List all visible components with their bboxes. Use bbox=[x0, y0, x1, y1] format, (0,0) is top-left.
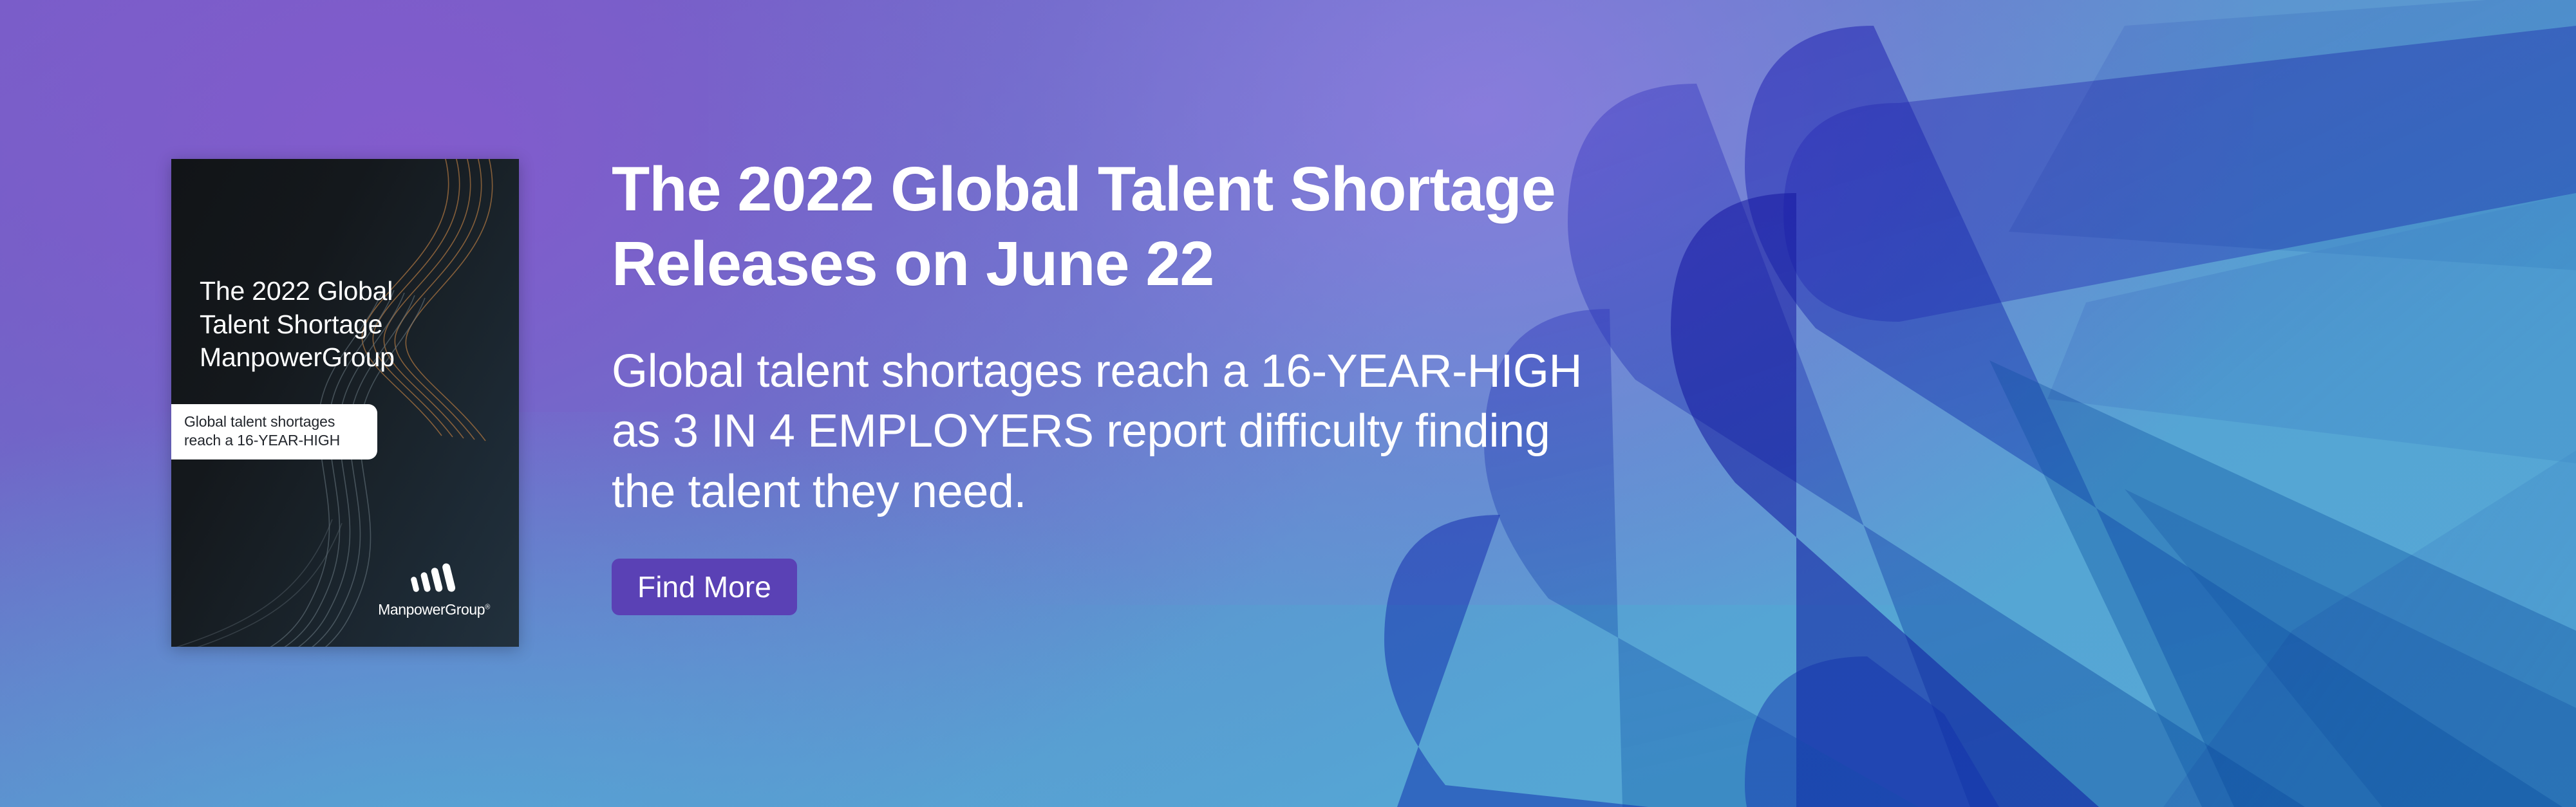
subcopy-line-3: the talent they need. bbox=[612, 466, 1026, 517]
cover-badge-line-2: reach a 16-YEAR-HIGH bbox=[184, 431, 366, 450]
cover-title-line-2: Talent Shortage bbox=[200, 308, 476, 342]
banner-content: The 2022 Global Talent Shortage Releases… bbox=[612, 152, 1822, 615]
manpowergroup-logo: ManpowerGroup® bbox=[376, 562, 492, 618]
trademark-symbol: ® bbox=[485, 603, 490, 611]
page-title: The 2022 Global Talent Shortage Releases… bbox=[612, 152, 1822, 302]
subcopy-line-1: Global talent shortages reach a 16-YEAR-… bbox=[612, 346, 1582, 397]
manpowergroup-wordmark: ManpowerGroup® bbox=[376, 601, 492, 618]
cover-title: The 2022 Global Talent Shortage Manpower… bbox=[200, 275, 476, 375]
find-more-button[interactable]: Find More bbox=[612, 559, 797, 615]
cover-badge-line-1: Global talent shortages bbox=[184, 413, 366, 431]
cover-title-line-3: ManpowerGroup bbox=[200, 341, 476, 375]
report-cover-image: The 2022 Global Talent Shortage Manpower… bbox=[171, 159, 519, 647]
headline-line-1: The 2022 Global Talent Shortage bbox=[612, 152, 1822, 227]
subcopy-line-2: as 3 IN 4 EMPLOYERS report difficulty fi… bbox=[612, 405, 1550, 457]
manpowergroup-bars-icon bbox=[411, 562, 457, 593]
promo-banner: The 2022 Global Talent Shortage Manpower… bbox=[0, 0, 2576, 807]
banner-subcopy: Global talent shortages reach a 16-YEAR-… bbox=[612, 342, 1822, 523]
cover-highlight-badge: Global talent shortages reach a 16-YEAR-… bbox=[171, 404, 377, 459]
headline-line-2: Releases on June 22 bbox=[612, 227, 1822, 301]
cover-title-line-1: The 2022 Global bbox=[200, 275, 476, 308]
